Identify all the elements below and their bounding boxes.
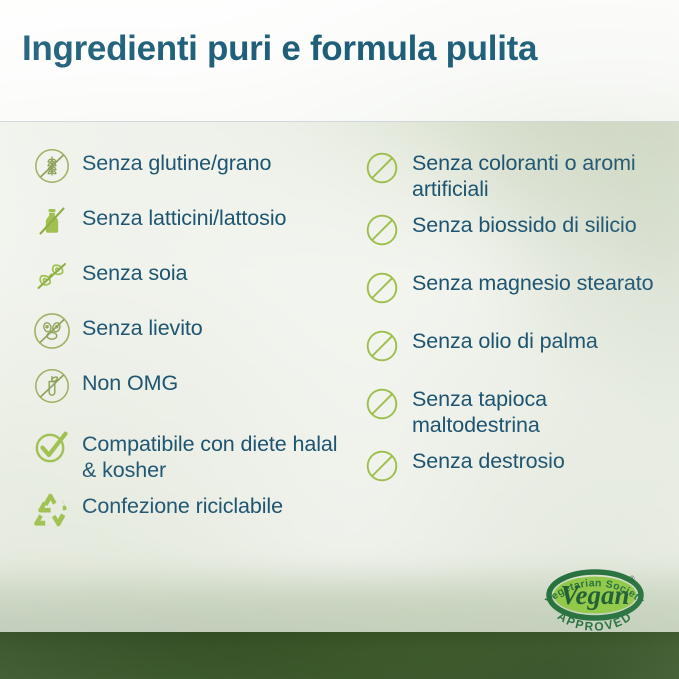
claim-item-no-palm-oil: Senza olio di palma (360, 324, 679, 376)
claim-item-non-gmo: Non OMG (30, 366, 352, 415)
claim-label: Senza latticini/lattosio (82, 201, 286, 232)
claim-label: Senza tapioca maltodestrina (412, 382, 679, 438)
prohibition-icon (360, 210, 404, 250)
claim-label: Senza soia (82, 256, 187, 287)
claim-item-no-soy: Senza soia (30, 256, 352, 305)
no-soy-pod-icon (30, 256, 74, 296)
vegetarian-society-vegan-approved-badge: Vegetarian Society APPROVED Vegan ® (531, 554, 659, 638)
claim-label: Confezione riciclabile (82, 489, 283, 520)
claim-label: Senza lievito (82, 311, 203, 342)
claim-label: Compatibile con diete halal & kosher (82, 427, 352, 483)
claim-label: Senza destrosio (412, 444, 565, 475)
prohibition-icon (360, 148, 404, 188)
non-gmo-icon (30, 366, 74, 406)
claim-label: Senza biossido di silicio (412, 208, 637, 239)
claim-item-no-dextrose: Senza destrosio (360, 444, 679, 496)
claim-item-no-silica: Senza biossido di silicio (360, 208, 679, 260)
badge-registered-mark: ® (629, 575, 635, 583)
prohibition-icon (360, 384, 404, 424)
claim-item-no-yeast: Senza lievito (30, 311, 352, 360)
checkmark-circle-icon (30, 427, 74, 467)
prohibition-icon (360, 446, 404, 486)
claim-label: Senza glutine/grano (82, 146, 271, 177)
left-claims-column: Senza glutine/grano Senza latticini/latt… (0, 146, 352, 544)
claim-label: Non OMG (82, 366, 178, 397)
claim-item-no-tapioca-maltodextrin: Senza tapioca maltodestrina (360, 382, 679, 438)
claim-item-no-magnesium-stearate: Senza magnesio stearato (360, 266, 679, 318)
no-dairy-bottle-icon (30, 201, 74, 241)
recycle-icon (30, 489, 74, 529)
claim-item-halal-kosher: Compatibile con diete halal & kosher (30, 427, 352, 483)
claim-item-no-dairy: Senza latticini/lattosio (30, 201, 352, 250)
prohibition-icon (360, 326, 404, 366)
no-yeast-icon (30, 311, 74, 351)
claim-item-no-colors-flavors: Senza coloranti o aromi artificiali (360, 146, 679, 202)
claim-label: Senza olio di palma (412, 324, 598, 355)
promo-graphic: Ingredienti puri e formula pulita (0, 0, 679, 679)
claim-label: Senza coloranti o aromi artificiali (412, 146, 679, 202)
claim-label: Senza magnesio stearato (412, 266, 654, 296)
claims-columns: Senza glutine/grano Senza latticini/latt… (0, 146, 679, 544)
badge-wordmark: Vegan (560, 580, 629, 610)
right-claims-column: Senza coloranti o aromi artificiali Senz… (352, 146, 679, 544)
page-title: Ingredienti puri e formula pulita (22, 29, 537, 69)
prohibition-icon (360, 268, 404, 308)
claim-item-recyclable: Confezione riciclabile (30, 489, 352, 538)
claim-item-no-gluten: Senza glutine/grano (30, 146, 352, 195)
no-gluten-wheat-icon (30, 146, 74, 186)
